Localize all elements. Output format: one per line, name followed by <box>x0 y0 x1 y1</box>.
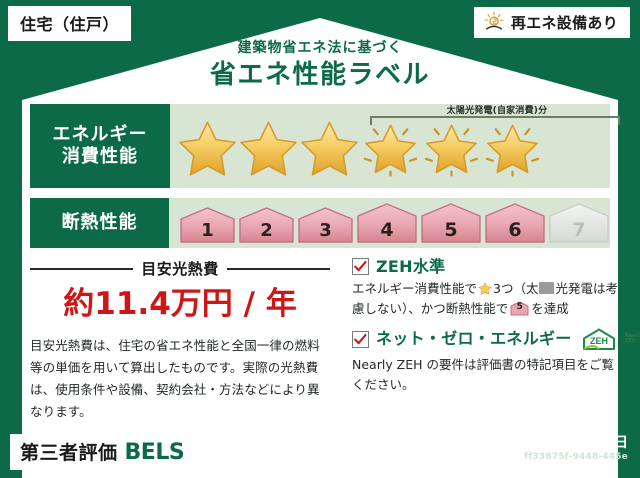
svg-text:ZEH: ZEH <box>590 336 608 346</box>
zeh-netzero-heading: ネット・ゼロ・エネルギー ZEH Nearly ZEH <box>352 327 624 352</box>
utility-cost-heading: 目安光熱費 <box>30 258 330 279</box>
check-mark-icon <box>353 259 368 274</box>
zeh-logo-subtext: Nearly ZEH <box>625 334 640 345</box>
inline-grade-badge: 5 <box>510 301 529 316</box>
zeh-body-text-3: を達成 <box>531 301 569 316</box>
grade-number: 1 <box>201 222 214 244</box>
star-icon <box>298 115 361 177</box>
star-icon <box>237 115 300 177</box>
zeh-netzero-item: ネット・ゼロ・エネルギー ZEH Nearly ZEH Nearly ZEH の… <box>352 327 624 395</box>
zeh-netzero-body: Nearly ZEH の要件は評価書の特記項目をご覧ください。 <box>352 355 624 395</box>
insulation-grade-4: 4 <box>356 202 418 244</box>
zeh-netzero-title: ネット・ゼロ・エネルギー <box>376 330 572 348</box>
redacted-character <box>539 282 554 294</box>
zeh-logo-sub-line2: ZEH <box>625 338 636 344</box>
zeh-logo-icon: ZEH <box>579 327 619 352</box>
insulation-grade-6: 6 <box>484 202 546 244</box>
grade-number: 6 <box>508 221 521 244</box>
insulation-performance-label: 断熱性能 <box>30 198 169 248</box>
insulation-grade-7: 7 <box>548 202 610 244</box>
zeh-block: ZEH水準 エネルギー消費性能で3つ（太光発電は考慮しない）、かつ断熱性能で5を… <box>352 258 624 399</box>
header-title: 省エネ性能ラベル <box>0 59 640 92</box>
zeh-standard-heading: ZEH水準 <box>352 258 624 276</box>
renewable-energy-badge: 再エネ設備あり <box>474 7 630 38</box>
heading-rule-left <box>30 268 133 270</box>
grade-number: 3 <box>319 222 332 244</box>
zeh-standard-item: ZEH水準 エネルギー消費性能で3つ（太光発電は考慮しない）、かつ断熱性能で5を… <box>352 258 624 319</box>
building-type-tag: 住宅（住戸） <box>8 6 131 41</box>
zeh-standard-body: エネルギー消費性能で3つ（太光発電は考慮しない）、かつ断熱性能で5を達成 <box>352 279 624 319</box>
room-number: 201号室 <box>256 445 309 464</box>
grade-number: 5 <box>444 221 457 244</box>
header-subtitle: 建築物省エネ法に基づく <box>0 40 640 57</box>
solar-bracket <box>370 116 620 125</box>
insulation-grade-1: 1 <box>179 206 236 244</box>
checkbox-checked-icon <box>352 258 369 275</box>
utility-cost-amount: 約11.4万円 / 年 <box>30 287 330 321</box>
insulation-grade-2: 2 <box>238 206 295 244</box>
zeh-standard-title: ZEH水準 <box>376 258 445 276</box>
grade-number: 2 <box>260 222 273 244</box>
checkbox-checked-icon <box>352 331 369 348</box>
inline-star-icon <box>478 281 492 295</box>
building-name: Luce <box>200 446 234 461</box>
insulation-grade-5: 5 <box>420 202 482 244</box>
label-header: 建築物省エネ法に基づく 省エネ性能ラベル <box>0 40 640 91</box>
insulation-label-text: 断熱性能 <box>62 212 138 234</box>
insulation-grade-scale: 1 2 3 4 <box>179 202 610 244</box>
zeh-body-star-count: 3つ（太 <box>493 281 538 296</box>
grade-number: 7 <box>572 221 585 244</box>
star-rating: 太陽光発電(自家消費)分 <box>170 104 610 188</box>
check-mark-icon <box>353 332 368 347</box>
insulation-performance-value: 1 2 3 4 <box>169 198 610 248</box>
utility-cost-heading-text: 目安光熱費 <box>141 258 219 279</box>
evaluation-date: 評価日 2025年12月19日 <box>461 432 628 452</box>
insulation-performance-row: 断熱性能 <box>30 198 610 248</box>
energy-label-line2: 消費性能 <box>62 146 138 168</box>
renewable-badge-label: 再エネ設備あり <box>511 12 618 33</box>
inline-grade-number: 5 <box>510 301 529 316</box>
energy-performance-row: エネルギー 消費性能 太陽光発電(自家消費)分 <box>30 104 610 188</box>
heading-rule-right <box>227 268 330 270</box>
utility-cost-note: 目安光熱費は、住宅の省エネ性能と全国一律の燃料等の単価を用いて算出したものです。… <box>30 335 330 423</box>
insulation-grade-3: 3 <box>297 206 354 244</box>
evaluation-id: ff33875f-9448-445e <box>524 452 628 462</box>
grade-number: 4 <box>380 221 393 244</box>
utility-cost-block: 目安光熱費 約11.4万円 / 年 目安光熱費は、住宅の省エネ性能と全国一律の燃… <box>30 258 330 423</box>
energy-performance-value: 太陽光発電(自家消費)分 <box>170 104 610 188</box>
label-footer: 第三者評価 BELS Luce 201号室 評価日 2025年12月19日 ff… <box>0 426 640 478</box>
bels-badge-jp-label: 第三者評価 <box>20 438 118 465</box>
bels-badge-en-label: BELS <box>125 440 185 465</box>
sun-icon <box>483 11 505 33</box>
star-icon <box>176 115 239 177</box>
energy-label-card: 住宅（住戸） 再エネ設備あり 建築物省エネ法に基づく 省エネ性能ラベル エネルギ… <box>0 0 640 478</box>
energy-performance-label: エネルギー 消費性能 <box>30 104 170 188</box>
bels-badge: 第三者評価 BELS <box>10 434 194 470</box>
solar-note-label: 太陽光発電(自家消費)分 <box>366 103 628 116</box>
zeh-body-text-1: エネルギー消費性能で <box>352 281 477 296</box>
energy-label-line1: エネルギー <box>53 124 148 146</box>
